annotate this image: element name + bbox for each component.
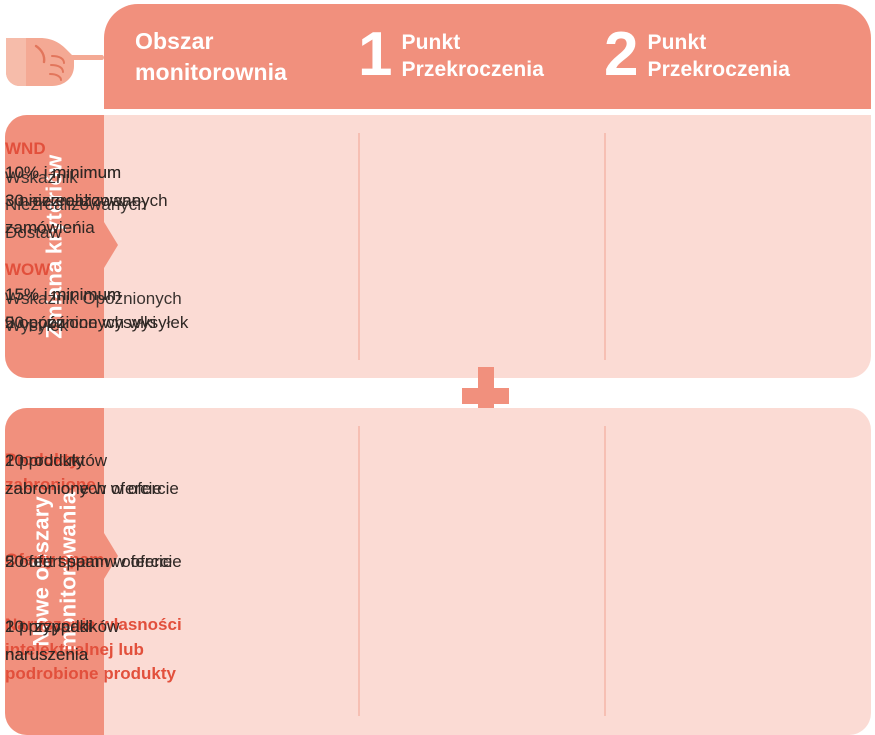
header-point-one-label-line1: Punkt [401, 30, 544, 57]
header-area-column: Obszar monitorownia [135, 4, 365, 109]
new-spam-p2-line1: 20 ofert spam w ofercie [5, 548, 250, 576]
criteria-divider-one [358, 133, 360, 360]
header-point-two-label-line1: Punkt [647, 30, 790, 57]
new-row-spam-point-two: 20 ofert spam w ofercie [5, 548, 250, 576]
criteria-wow-p2-line2: 50 opóźnionych wysyłek [5, 309, 250, 337]
pointing-hand-icon [6, 16, 104, 94]
header-point-one-column: 1 Punkt Przekroczenia [358, 4, 588, 109]
new-forbidden-p2-line2: zabronionych w ofercie [5, 475, 250, 503]
new-divider-two [604, 426, 606, 716]
header-bar: Obszar monitorownia 1 Punkt Przekroczeni… [104, 4, 871, 109]
section-new-areas: Nowe obszary monitorowania Produkty zabr… [5, 408, 871, 735]
header-area-title: Obszar monitorownia [135, 26, 287, 87]
header-point-one-label: Punkt Przekroczenia [401, 30, 544, 84]
section-criteria-change: Zmiana kryteriów WND Wskaźnik Niezrealiz… [5, 115, 871, 378]
header-area-title-line1: Obszar [135, 26, 287, 56]
criteria-row-wnd-point-two: 10% i minimum 30 niezrealizowanych zamów… [5, 159, 250, 242]
criteria-wnd-p2-line3: zamówień [5, 214, 250, 242]
header-point-one-number: 1 [358, 24, 391, 86]
criteria-wnd-p2-line2: 30 niezrealizowanych [5, 187, 250, 215]
header-point-two-column: 2 Punkt Przekroczenia [604, 4, 854, 109]
header-area-title-line2: monitorownia [135, 57, 287, 87]
criteria-wow-p2-line1: 15% i minimum [5, 281, 250, 309]
criteria-row-wow-tag: WOW [5, 258, 220, 283]
plus-horizontal-bar [462, 388, 509, 404]
new-ip-p2-line2: naruszenia [5, 641, 250, 669]
new-forbidden-p2-line1: 10 produktów [5, 447, 250, 475]
new-ip-p2-line1: 10 przypadków [5, 613, 250, 641]
criteria-wnd-p2-line1: 10% i minimum [5, 159, 250, 187]
header-point-one-label-line2: Przekroczenia [401, 57, 544, 84]
new-divider-one [358, 426, 360, 716]
new-row-ip-point-two: 10 przypadków naruszenia [5, 613, 250, 668]
criteria-row-wow-point-two: 15% i minimum 50 opóźnionych wysyłek [5, 281, 250, 336]
new-row-forbidden-point-two: 10 produktów zabronionych w ofercie [5, 447, 250, 502]
criteria-divider-two [604, 133, 606, 360]
header-point-two-label-line2: Przekroczenia [647, 57, 790, 84]
criteria-row-wnd-tag: WND [5, 137, 220, 162]
header-point-two-number: 2 [604, 24, 637, 86]
header-point-two-label: Punkt Przekroczenia [647, 30, 790, 84]
